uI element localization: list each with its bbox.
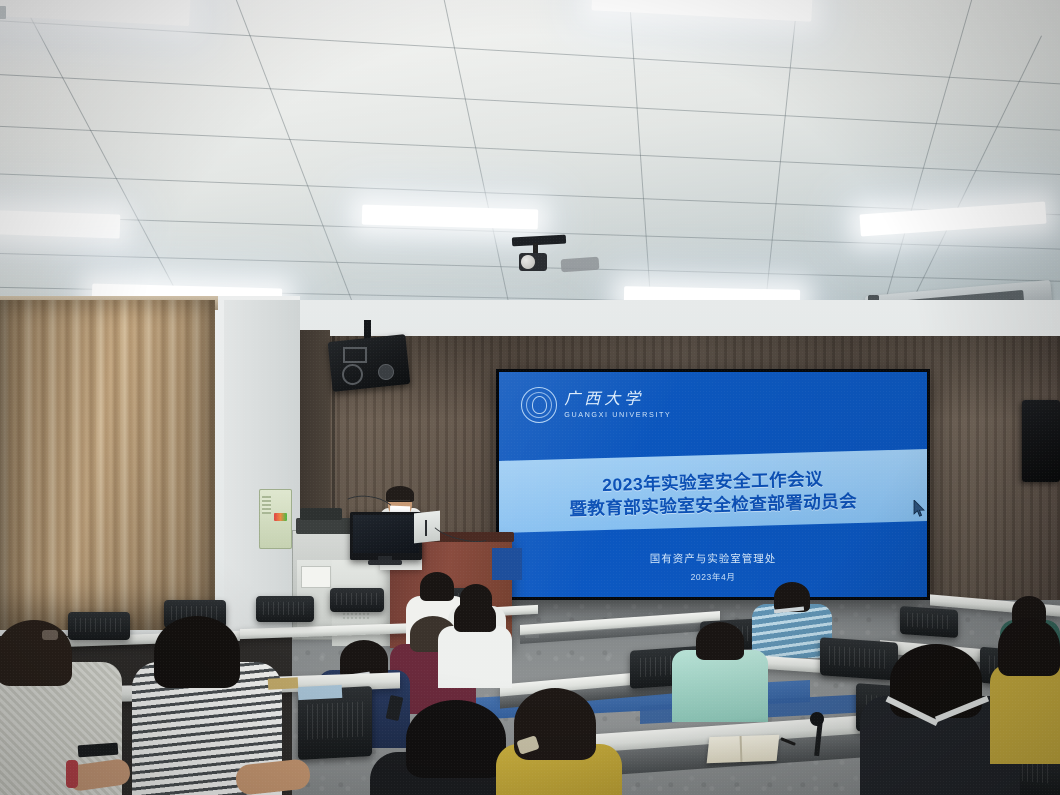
camera-lens-icon bbox=[378, 364, 394, 380]
panel-vent-icon bbox=[262, 496, 271, 514]
attendee-hair bbox=[154, 616, 240, 688]
university-logo: 广西大学 GUANGXI UNIVERSITY bbox=[521, 387, 671, 423]
projector-vent-plate bbox=[561, 257, 600, 273]
hair-clip-icon bbox=[42, 630, 58, 640]
chair[interactable] bbox=[256, 596, 314, 622]
open-notebook[interactable] bbox=[707, 735, 780, 764]
speaker-driver-icon bbox=[342, 364, 363, 385]
attendee-hair bbox=[998, 618, 1060, 676]
photo-scene: 广西大学 GUANGXI UNIVERSITY 2023年实验室安全工作会议 暨… bbox=[0, 0, 1060, 795]
chair[interactable] bbox=[820, 637, 898, 680]
chair[interactable] bbox=[68, 612, 130, 640]
screen-mount-clip bbox=[0, 6, 6, 19]
presentation-slide: 广西大学 GUANGXI UNIVERSITY 2023年实验室安全工作会议 暨… bbox=[499, 372, 927, 597]
notebook[interactable] bbox=[268, 677, 299, 690]
glasses-icon bbox=[389, 500, 410, 505]
attendee-hair bbox=[406, 700, 506, 778]
chair[interactable] bbox=[330, 588, 384, 612]
attendee-hair bbox=[696, 622, 744, 660]
slide-date: 2023年4月 bbox=[499, 571, 927, 583]
attendee-hair bbox=[0, 620, 72, 686]
panel-indicator-lights bbox=[274, 513, 287, 521]
desk-microphone-head bbox=[810, 712, 824, 726]
speaker-panel-icon bbox=[343, 347, 367, 363]
projection-screen[interactable]: 广西大学 GUANGXI UNIVERSITY 2023年实验室安全工作会议 暨… bbox=[496, 369, 930, 600]
curtain-shading bbox=[0, 300, 215, 630]
university-crest-icon bbox=[521, 387, 557, 423]
sleeve-cuff bbox=[66, 760, 78, 788]
slide-organizer: 国有资产与实验室管理处 bbox=[499, 551, 927, 566]
notebook[interactable] bbox=[298, 685, 343, 700]
chair[interactable] bbox=[900, 606, 958, 638]
attendee-hair bbox=[420, 572, 454, 601]
left-wall-shaded bbox=[224, 300, 300, 630]
attendee-torso bbox=[438, 626, 512, 688]
wall-speaker-right bbox=[1022, 400, 1060, 482]
ceiling-speaker bbox=[328, 334, 411, 392]
university-name-cn: 广西大学 bbox=[564, 392, 671, 408]
microphone-base bbox=[425, 520, 427, 536]
cabinet-label bbox=[301, 566, 331, 588]
attendee-torso bbox=[672, 650, 768, 722]
podium-blue-accent bbox=[492, 548, 522, 580]
attendee-hair bbox=[454, 600, 496, 632]
attendee-torso bbox=[990, 664, 1060, 764]
ceiling-light-panel bbox=[0, 209, 120, 238]
av-rack-equipment bbox=[300, 508, 342, 520]
university-name-en: GUANGXI UNIVERSITY bbox=[564, 411, 671, 418]
projector-lens-icon bbox=[521, 255, 535, 269]
monitor-base bbox=[368, 560, 402, 565]
